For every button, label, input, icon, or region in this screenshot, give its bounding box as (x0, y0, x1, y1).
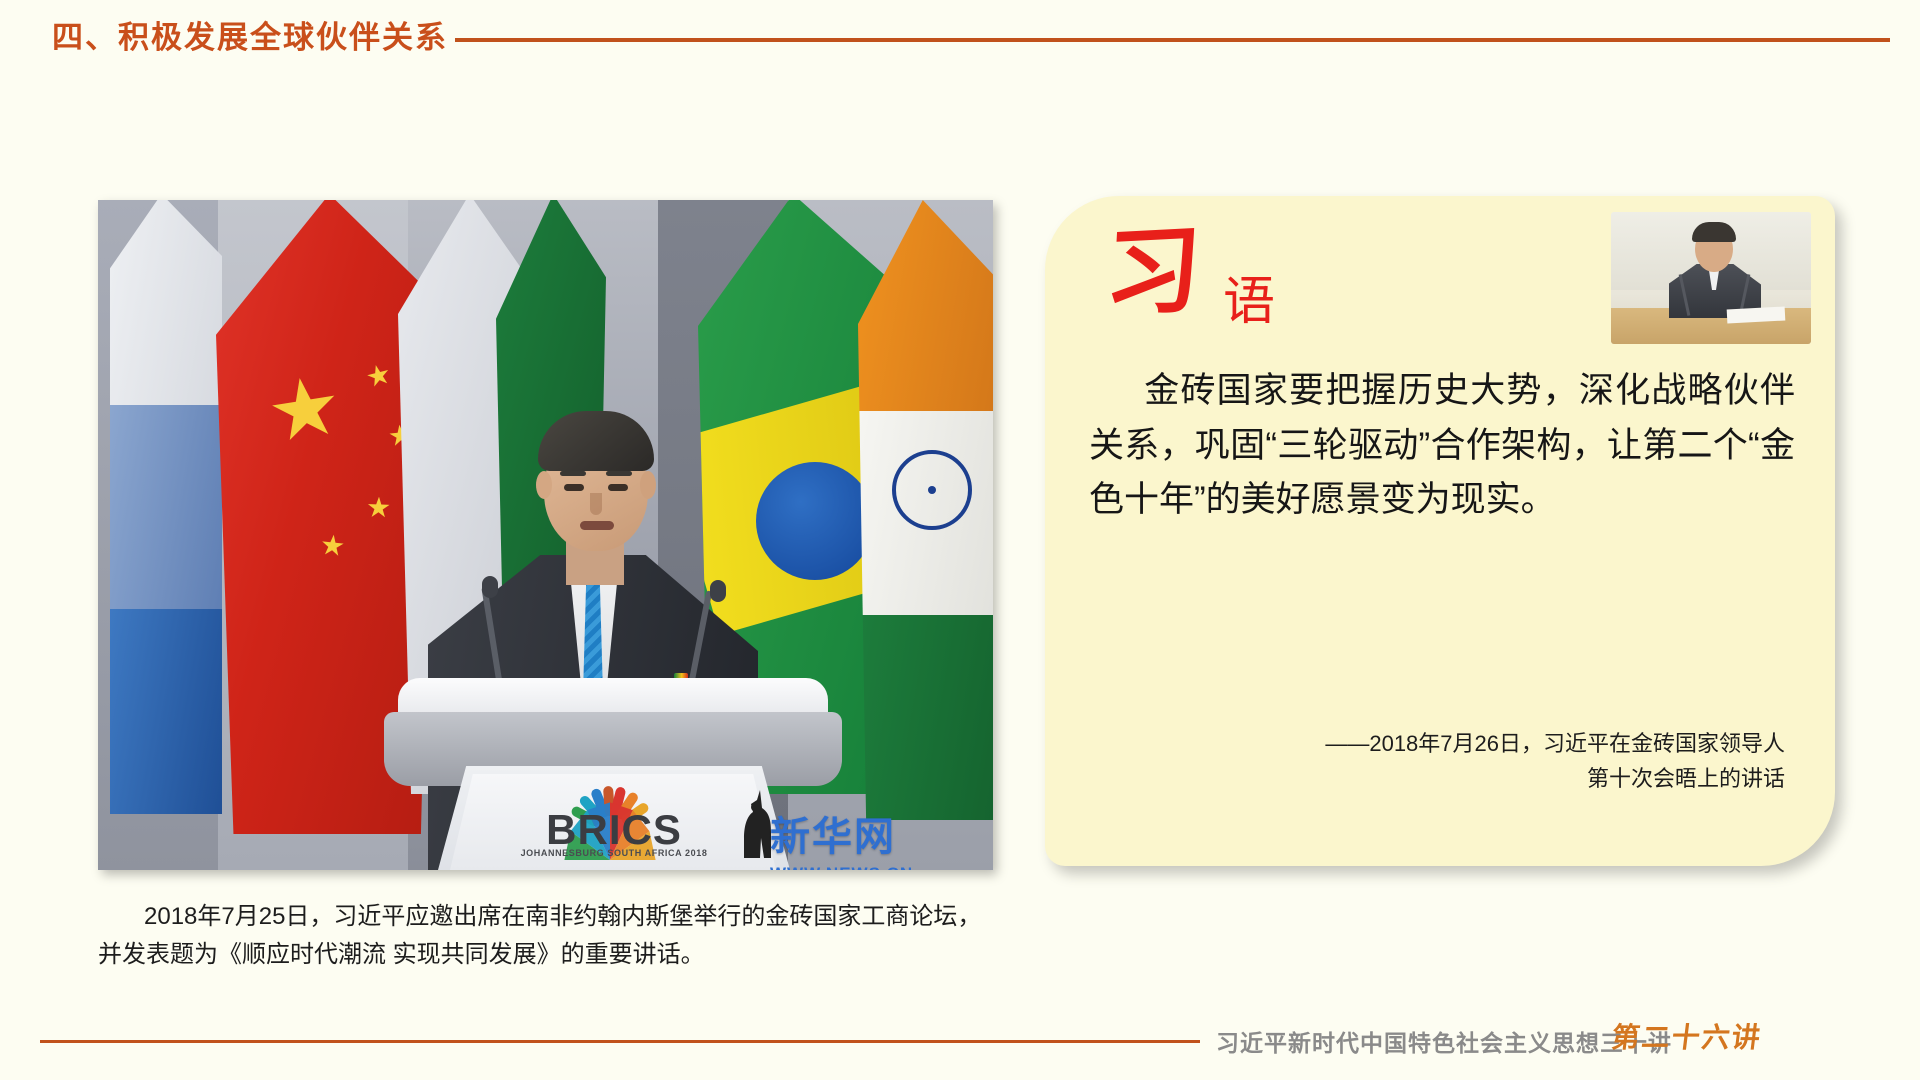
quote-text: 金砖国家要把握历史大势，深化战略伙伴关系，巩固“三轮驱动”合作架构，让第二个“金… (1089, 364, 1795, 528)
india-flag-icon (858, 200, 993, 820)
caption-line-2: 并发表题为《顺应时代潮流 实现共同发展》的重要讲话。 (98, 941, 705, 968)
photo-canvas: ★ ★ ★ ★ ★ (98, 200, 993, 870)
speaker-portrait (1611, 212, 1811, 344)
page-title: 四、积极发展全球伙伴关系 (52, 12, 448, 57)
header-divider (455, 38, 1890, 42)
watermark-cn-label: 新华网 (770, 804, 970, 862)
quote-card: 习 语 金砖国家要把握历史大势，深化战略伙伴关系，巩固“三轮驱动”合作架构，让第… (1045, 196, 1835, 866)
russia-flag-icon (110, 200, 222, 814)
slide-header: 四、积极发展全球伙伴关系 (0, 0, 1920, 70)
quote-attribution: ——2018年7月26日，习近平在金砖国家领导人 第十次会晤上的讲话 (1145, 726, 1785, 796)
attribution-line-2: 第十次会晤上的讲话 (1587, 766, 1785, 791)
microphone-head-icon (710, 580, 726, 602)
xinhua-watermark: 新华网 WWW.NEWS.CN (770, 804, 970, 870)
quote-text-content: 金砖国家要把握历史大势，深化战略伙伴关系，巩固“三轮驱动”合作架构，让第二个“金… (1089, 371, 1795, 519)
attribution-line-1: ——2018年7月26日，习近平在金砖国家领导人 (1325, 731, 1785, 756)
footer-lecture-number: 第二十六讲 (1610, 1016, 1765, 1056)
footer-series-title: 习近平新时代中国特色社会主义思想三十讲 (1216, 1024, 1672, 1058)
podium-brand-label: BRICS (484, 806, 744, 854)
caption-line-1: 2018年7月25日，习近平应邀出席在南非约翰内斯堡举行的金砖国家工商论坛， (144, 903, 981, 930)
speech-photo: ★ ★ ★ ★ ★ (98, 200, 993, 870)
microphone-head-icon (482, 576, 498, 598)
xiyu-logo-sub-char: 语 (1223, 276, 1275, 328)
watermark-en-label: WWW.NEWS.CN (770, 864, 970, 870)
photo-caption: 2018年7月25日，习近平应邀出席在南非约翰内斯堡举行的金砖国家工商论坛， 并… (98, 898, 998, 974)
footer-divider (40, 1040, 1200, 1043)
podium-subtitle-label: JOHANNESBURG SOUTH AFRICA 2018 (484, 848, 744, 858)
xiyu-logo: 习 语 (1105, 224, 1325, 344)
xiyu-logo-main-char: 习 (1102, 222, 1203, 323)
